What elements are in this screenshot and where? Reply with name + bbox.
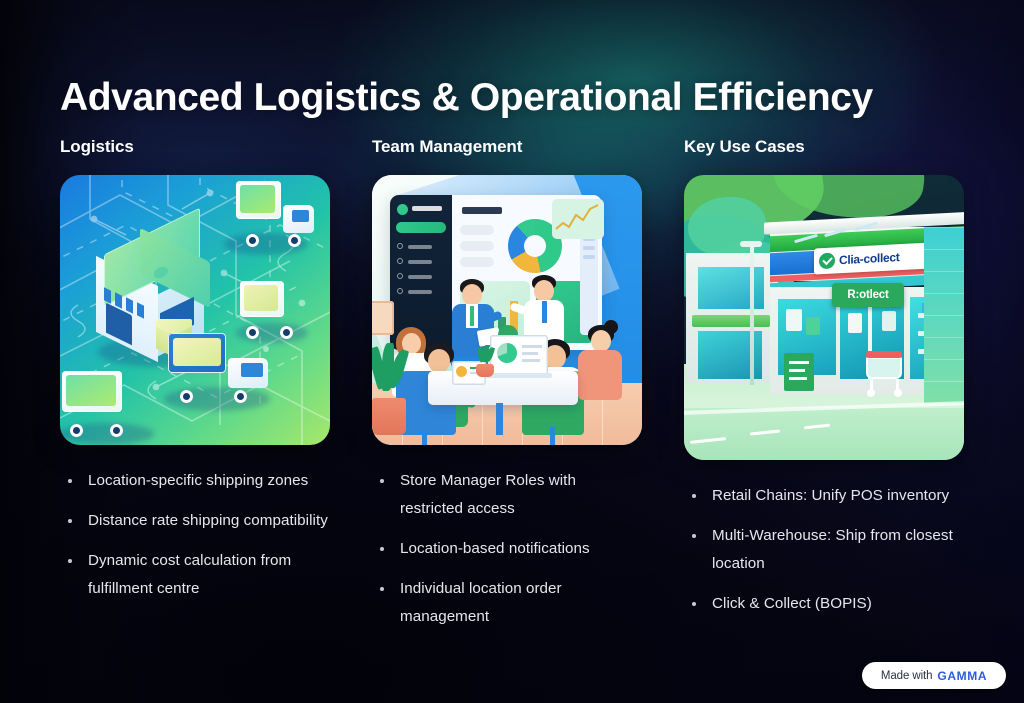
team-meeting-dashboard-illustration <box>372 175 642 445</box>
dashboard-nav-item <box>397 288 445 295</box>
list-item: Click & Collect (BOPIS) <box>684 590 964 618</box>
tie <box>542 301 547 323</box>
line-chart-sparkline <box>552 199 604 239</box>
shopping-cart <box>864 351 908 397</box>
dashboard-filter-chip <box>460 241 494 251</box>
person-seated-right-woman <box>578 325 624 409</box>
sandwich-board-sign <box>784 353 814 391</box>
key-use-cases-image-card: Clia-collect R:otlect <box>684 175 964 460</box>
column-heading-team-management: Team Management <box>372 136 642 158</box>
store-secondary-sign-text: R:otlect <box>847 289 888 301</box>
laptop-donut-chart <box>497 343 517 363</box>
sandwich-board-line <box>789 377 807 380</box>
logistics-image-card <box>60 175 330 445</box>
truck-wheel <box>180 390 193 403</box>
truck-cargo <box>236 181 281 219</box>
torso <box>578 350 622 400</box>
made-with-gamma-badge[interactable]: Made with GAMMA <box>862 662 1006 689</box>
column-team-management: Team Management <box>372 136 642 643</box>
truck-wheel <box>110 424 123 437</box>
warehouse-window <box>137 302 144 318</box>
store-secondary-sign: R:otlect <box>832 283 904 307</box>
list-item: Individual location order management <box>372 575 642 631</box>
list-item: Multi-Warehouse: Ship from closest locat… <box>684 522 964 578</box>
laptop-pie <box>456 366 467 377</box>
warehouse-window <box>126 297 133 313</box>
truck-window <box>292 210 309 222</box>
list-item: Location-specific shipping zones <box>60 467 330 495</box>
road-dash <box>804 424 830 430</box>
logistics-bullet-list: Location-specific shipping zones Distanc… <box>60 467 330 615</box>
road <box>684 408 964 460</box>
laptop-text-line <box>522 352 538 355</box>
truck-window <box>241 363 263 376</box>
dashboard-filter-chip <box>460 225 494 235</box>
truck-wheel <box>70 424 83 437</box>
plant-pot <box>372 398 406 435</box>
window-glass <box>698 267 764 309</box>
laptop-base <box>486 373 552 378</box>
slide-content: Advanced Logistics & Operational Efficie… <box>0 0 1024 703</box>
slide-canvas: Advanced Logistics & Operational Efficie… <box>0 0 1024 703</box>
store-corner-wall-lines <box>924 227 964 403</box>
street-lamp-pole <box>750 245 754 385</box>
delivery-truck-top <box>236 181 314 243</box>
badge-brand-text: GAMMA <box>937 669 987 683</box>
delivery-truck-center <box>168 333 268 399</box>
tree-canopy <box>688 197 766 257</box>
sandwich-board-line <box>789 369 805 372</box>
head <box>428 349 450 373</box>
head <box>462 284 482 306</box>
truck-wheel <box>288 234 301 247</box>
column-heading-logistics: Logistics <box>60 136 330 158</box>
badge-prefix-text: Made with <box>881 670 933 682</box>
column-heading-key-use-cases: Key Use Cases <box>684 136 964 158</box>
delivery-truck-bottom-left <box>62 371 146 433</box>
wall-frame <box>372 301 394 335</box>
team-management-bullet-list: Store Manager Roles with restricted acce… <box>372 467 642 643</box>
store-primary-sign-text: Clia-collect <box>839 250 899 267</box>
list-item: Distance rate shipping compatibility <box>60 507 330 535</box>
list-item: Store Manager Roles with restricted acce… <box>372 467 642 523</box>
chair-leg <box>422 427 427 445</box>
window-poster <box>882 311 896 331</box>
cart-basket <box>866 357 902 379</box>
check-badge-icon <box>819 252 835 269</box>
dashboard-logo-text <box>412 206 442 211</box>
list-item: Location-based notifications <box>372 535 642 563</box>
column-key-use-cases: Key Use Cases <box>684 136 964 643</box>
truck-wheel <box>234 390 247 403</box>
plant-pot <box>476 364 494 377</box>
potted-plant-table <box>476 347 494 377</box>
dashboard-nav-item <box>397 243 445 250</box>
sandwich-board-line <box>789 361 809 364</box>
cart-wheel <box>894 389 902 397</box>
chair-leg <box>550 427 555 445</box>
team-management-image-card <box>372 175 642 445</box>
truck-wheel <box>246 234 259 247</box>
potted-plant-floor <box>372 343 406 435</box>
laptop-open <box>490 335 548 375</box>
road-dash <box>690 437 726 444</box>
warehouse-window <box>104 287 111 303</box>
list-item: Retail Chains: Unify POS inventory <box>684 482 964 510</box>
retail-storefront-illustration: Clia-collect R:otlect <box>684 175 964 460</box>
road-dash <box>750 429 780 435</box>
truck-cargo <box>168 333 226 373</box>
columns-container: Logistics <box>60 136 966 643</box>
cart-handle-red <box>866 351 902 358</box>
window-poster <box>786 309 802 331</box>
warehouse-window <box>115 292 122 308</box>
logistics-isometric-illustration <box>60 175 330 445</box>
dashboard-nav-item <box>397 258 445 265</box>
tie <box>470 306 474 326</box>
column-logistics: Logistics <box>60 136 330 643</box>
table-leg <box>496 403 503 435</box>
page-title: Advanced Logistics & Operational Efficie… <box>60 74 873 122</box>
head <box>534 280 554 302</box>
truck-cargo <box>240 281 284 317</box>
dashboard-logo-icon <box>397 204 408 215</box>
dashboard-active-nav <box>396 222 446 233</box>
dashboard-nav-item <box>397 273 445 280</box>
laptop-text-line <box>522 345 542 348</box>
cart-wheel <box>867 389 875 397</box>
adjacent-building <box>686 253 778 383</box>
key-use-cases-bullet-list: Retail Chains: Unify POS inventory Multi… <box>684 482 964 630</box>
street-lamp-head <box>740 241 762 247</box>
awning-green <box>692 315 770 327</box>
dashboard-filter-chip <box>460 257 494 267</box>
truck-cargo <box>62 371 122 412</box>
delivery-truck-right <box>240 281 306 335</box>
laptop-text-line <box>522 359 540 362</box>
list-item: Dynamic cost calculation from fulfillmen… <box>60 547 330 603</box>
window-poster <box>848 313 862 333</box>
window-poster <box>806 317 820 335</box>
head <box>591 330 611 352</box>
dashboard-title-bar <box>462 207 502 214</box>
truck-wheel <box>280 326 293 339</box>
